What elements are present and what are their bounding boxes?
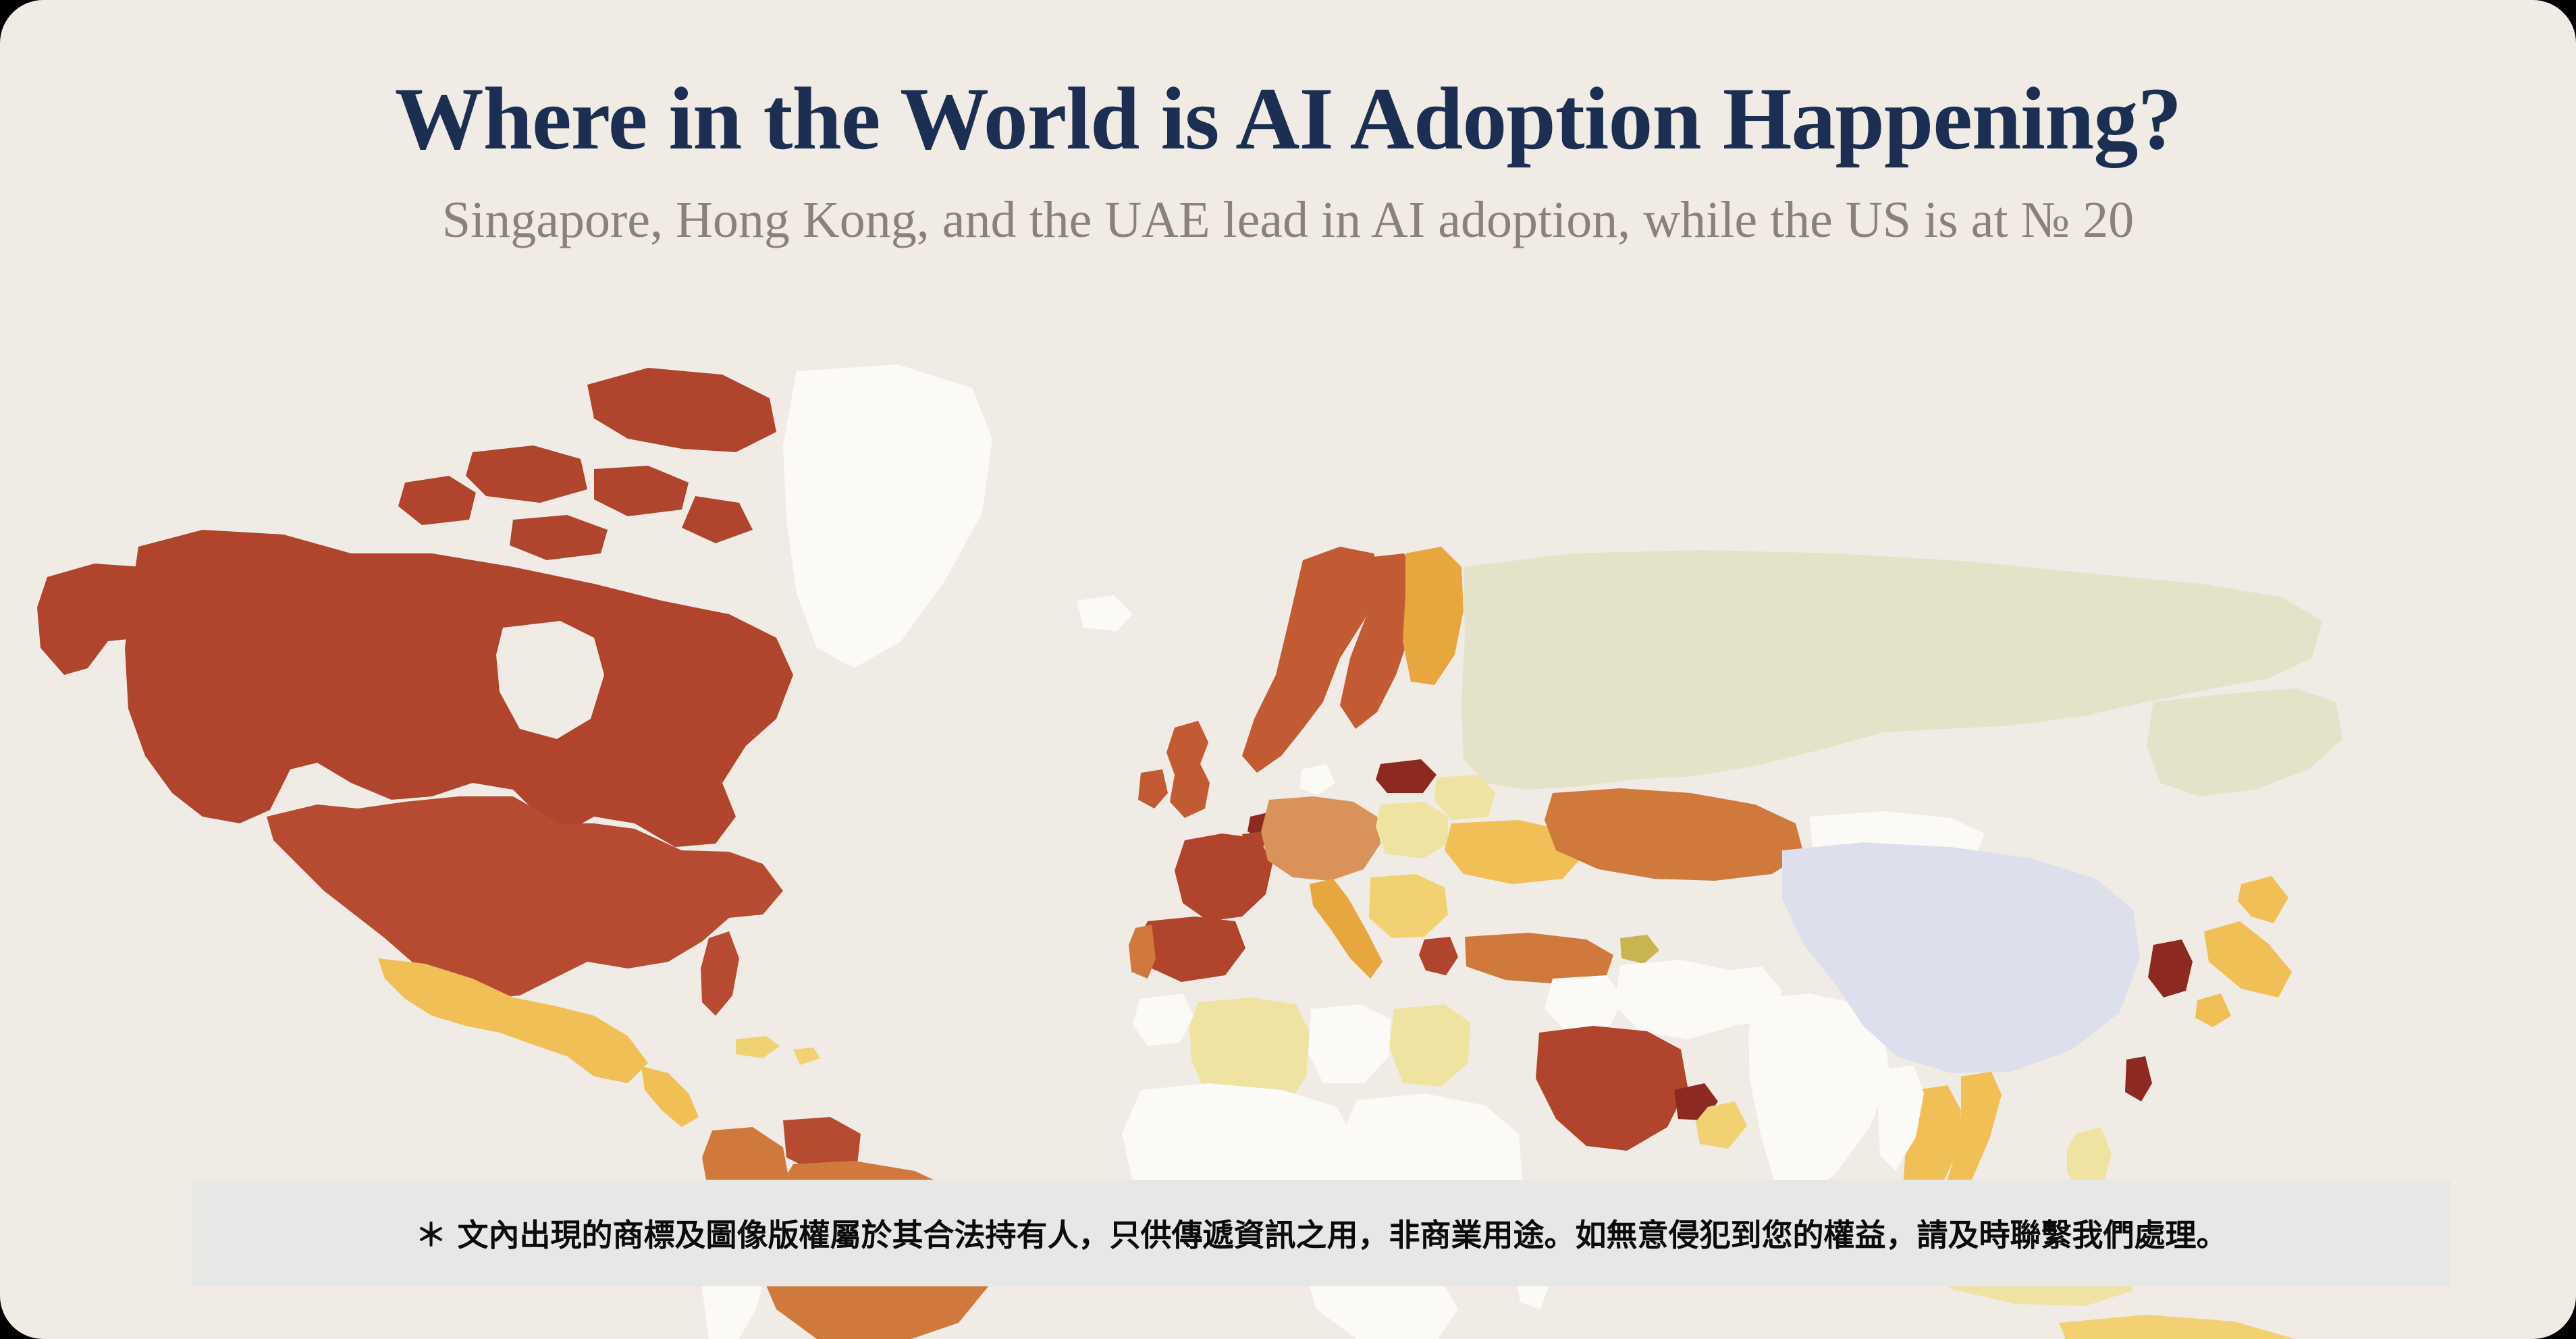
infographic-card: Where in the World is AI Adoption Happen…	[0, 0, 2576, 1339]
region-central-america	[641, 1066, 699, 1127]
country-greece	[1419, 937, 1458, 975]
country-greenland	[783, 364, 992, 668]
region-balkans	[1369, 874, 1448, 938]
country-south-korea	[2148, 939, 2193, 998]
country-morocco	[1133, 993, 1193, 1046]
country-taiwan	[2125, 1056, 2152, 1101]
country-japan	[2195, 876, 2292, 1027]
header: Where in the World is AI Adoption Happen…	[0, 0, 2576, 246]
region-oceania	[2059, 1315, 2295, 1339]
country-canada-arctic	[398, 368, 776, 560]
country-us-florida	[701, 931, 739, 1016]
country-kazakhstan	[1545, 788, 1804, 881]
country-united-kingdom	[1166, 721, 1210, 818]
disclaimer-text: ＊ 文內出現的商標及圖像版權屬於其合法持有人，只供傳遞資訊之用，非商業用途。如無…	[415, 1211, 2227, 1255]
country-finland	[1403, 547, 1464, 685]
country-portugal	[1129, 925, 1156, 979]
page-title: Where in the World is AI Adoption Happen…	[0, 74, 2576, 163]
region-caribbean	[736, 1036, 820, 1065]
country-russia-east	[2147, 688, 2342, 796]
country-lithuania	[1376, 759, 1437, 793]
page-subtitle: Singapore, Hong Kong, and the UAE lead i…	[0, 194, 2576, 246]
country-egypt	[1389, 1004, 1470, 1087]
region-caucasus	[1620, 935, 1659, 964]
country-iraq-syria	[1545, 975, 1624, 1031]
country-iceland	[1077, 595, 1133, 631]
country-saudi-arabia	[1536, 1026, 1688, 1151]
region-africa	[1122, 993, 1553, 1339]
copyright-disclaimer-banner: ＊ 文內出現的商標及圖像版權屬於其合法持有人，只供傳遞資訊之用，非商業用途。如無…	[192, 1180, 2450, 1286]
region-asia-north	[1461, 550, 2342, 881]
region-north-america	[37, 364, 992, 1127]
country-germany	[1261, 796, 1380, 881]
country-poland	[1376, 802, 1448, 858]
country-denmark	[1299, 764, 1335, 795]
country-ireland	[1138, 769, 1168, 809]
country-australia	[2059, 1315, 2295, 1339]
country-libya	[1308, 1004, 1391, 1083]
